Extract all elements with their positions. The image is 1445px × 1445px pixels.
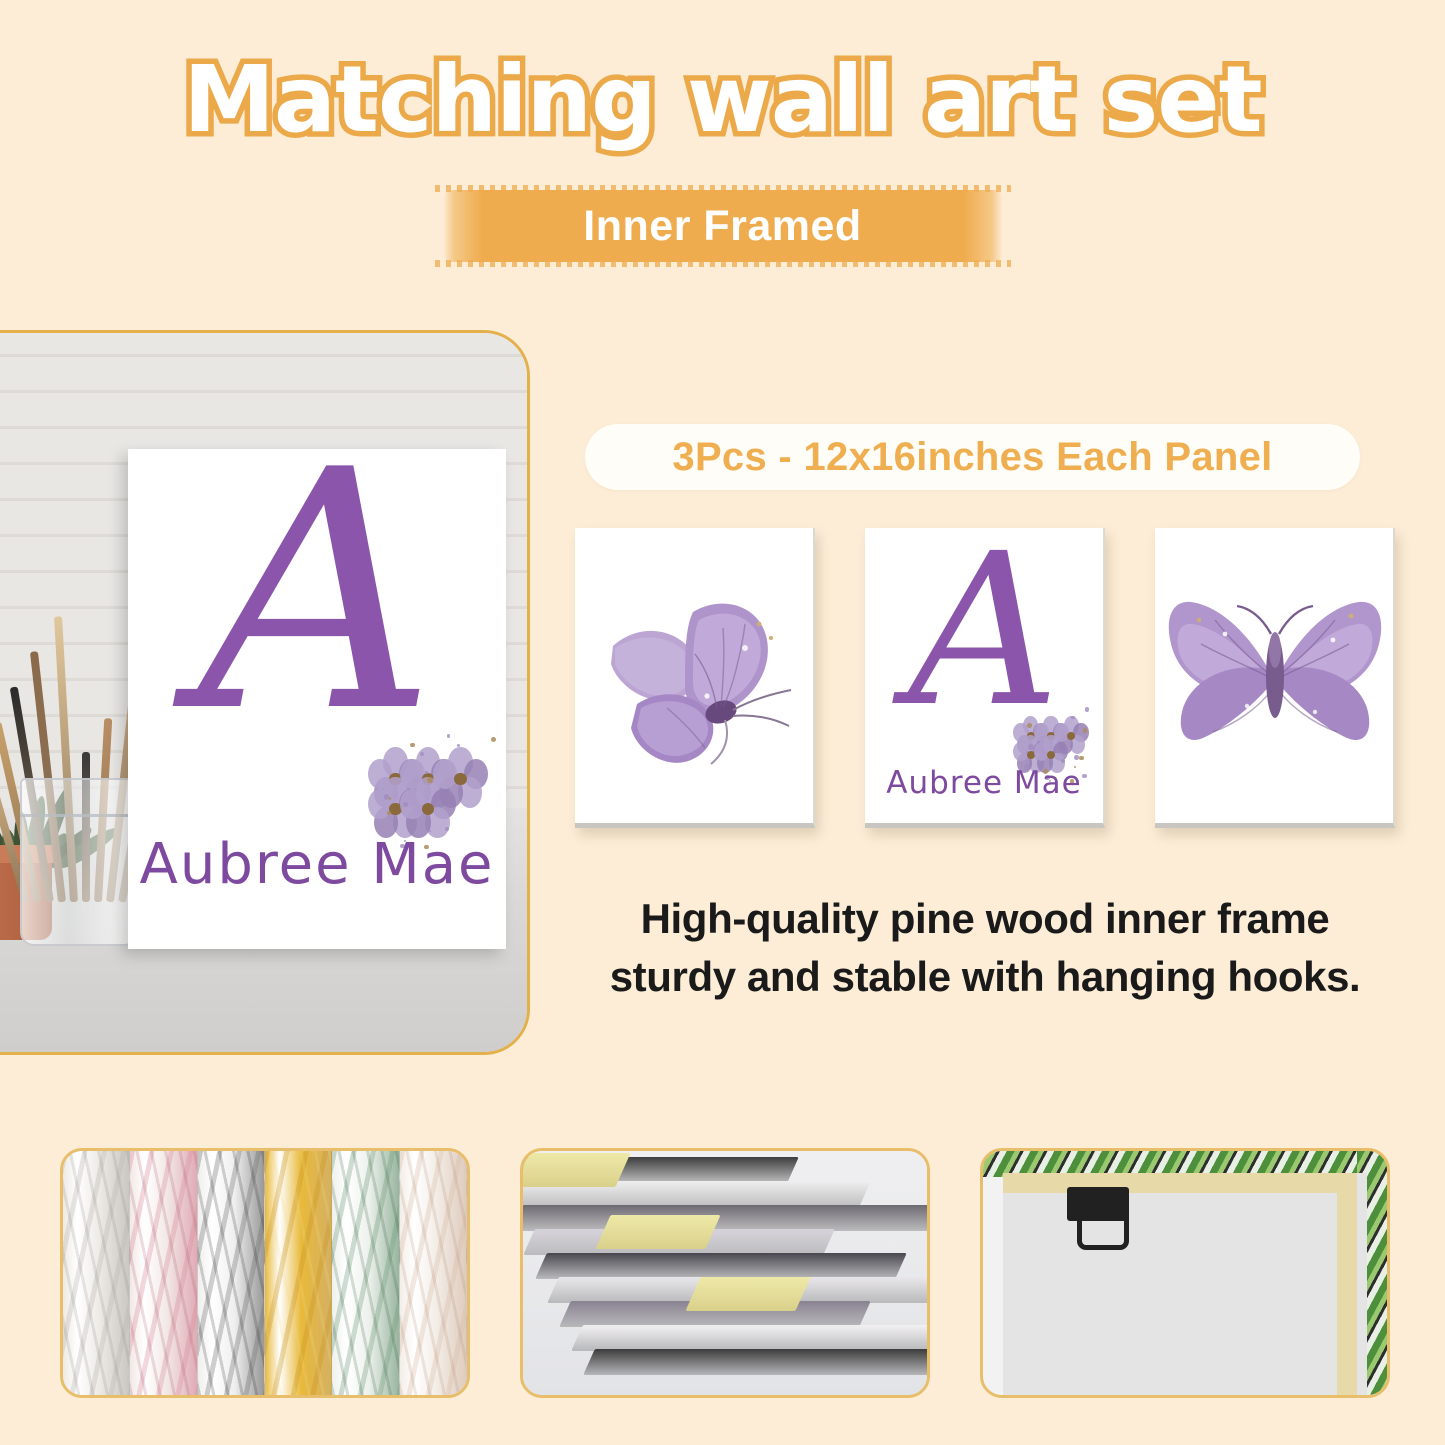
- hanging-hook-icon: [1067, 1187, 1129, 1221]
- frame-back-image: [983, 1151, 1387, 1395]
- canvas-rolls-image: [63, 1151, 467, 1395]
- feature-line-1: High-quality pine wood inner frame: [575, 890, 1395, 948]
- feature-line-2: sturdy and stable with hanging hooks.: [575, 948, 1395, 1006]
- hero-name-text: Aubree Mae: [128, 832, 506, 897]
- glass-jar: [20, 778, 138, 946]
- panel-name-text: Aubree Mae: [865, 765, 1103, 801]
- butterfly-front-icon: [1155, 528, 1393, 823]
- panel-monogram[interactable]: A Aubree Mae: [865, 528, 1105, 828]
- thumbnail-canvas-rolls[interactable]: [60, 1148, 470, 1398]
- inner-framed-banner: Inner Framed: [443, 190, 1003, 262]
- size-badge: 3Pcs - 12x16inches Each Panel: [585, 424, 1360, 490]
- butterfly-side-icon: [575, 528, 813, 823]
- hero-canvas-print: A Aubree Mae: [128, 449, 506, 949]
- hero-lifestyle-photo: A Aubree Mae: [0, 330, 530, 1055]
- panel-set: A Aubree Mae: [575, 528, 1395, 838]
- page-title: Matching wall art set: [0, 52, 1445, 149]
- thumbnail-frame-back[interactable]: [980, 1148, 1390, 1398]
- foam-packaging-image: [523, 1151, 927, 1395]
- size-badge-label: 3Pcs - 12x16inches Each Panel: [672, 435, 1272, 480]
- hero-monogram-letter: A: [128, 427, 506, 757]
- detail-thumbnail-row: [60, 1148, 1390, 1398]
- feature-description: High-quality pine wood inner frame sturd…: [575, 890, 1395, 1006]
- thumbnail-foam-packaging[interactable]: [520, 1148, 930, 1398]
- panel-butterfly-side[interactable]: [575, 528, 815, 828]
- banner-label: Inner Framed: [443, 190, 1003, 262]
- panel-butterfly-front[interactable]: [1155, 528, 1395, 828]
